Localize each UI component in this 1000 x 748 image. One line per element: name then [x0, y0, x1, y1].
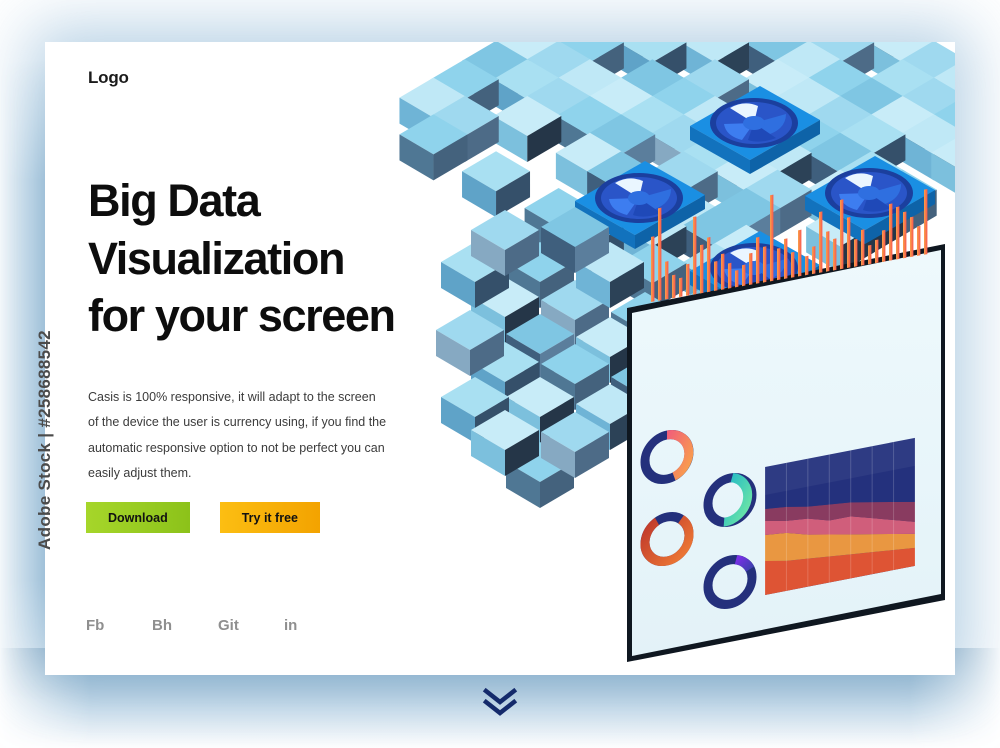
bar [686, 264, 689, 296]
bar [805, 256, 808, 276]
hero-card: Logo Big Data Visualization for your scr… [45, 42, 955, 675]
bar [679, 278, 682, 298]
bar [672, 275, 675, 299]
bar [658, 208, 661, 301]
bar [693, 216, 696, 294]
bar [812, 246, 815, 274]
bar [840, 199, 843, 269]
bar [735, 270, 738, 287]
bar [875, 239, 878, 263]
bar [749, 253, 752, 285]
bar [784, 238, 787, 279]
stock-watermark: Adobe Stock | #258688542 [35, 325, 55, 555]
bar [868, 245, 871, 265]
try-it-free-button[interactable]: Try it free [220, 502, 320, 533]
bar [833, 238, 836, 270]
hero-description: Casis is 100% responsive, it will adapt … [88, 385, 388, 488]
bar [791, 252, 794, 278]
bar [924, 189, 927, 255]
social-link-github[interactable]: Git [218, 617, 284, 634]
page-title: Big Data Visualization for your screen [88, 172, 508, 345]
double-chevron-down-icon [481, 685, 519, 719]
bar [763, 246, 766, 282]
bar [819, 211, 822, 273]
page-stage: Logo Big Data Visualization for your scr… [0, 0, 1000, 748]
bar [728, 263, 731, 289]
hero-card-clip: Logo Big Data Visualization for your scr… [45, 42, 955, 675]
logo[interactable]: Logo [88, 68, 129, 88]
bar [721, 253, 724, 289]
social-links: Fb Bh Git in [86, 617, 350, 634]
headline-line-1: Big Data [88, 172, 508, 230]
bar [917, 226, 920, 256]
bar [889, 203, 892, 260]
bar [854, 239, 857, 267]
social-link-facebook[interactable]: Fb [86, 617, 152, 634]
bar [700, 245, 703, 294]
bar [882, 230, 885, 262]
bar [903, 212, 906, 259]
isometric-illustration [445, 42, 955, 675]
bar [896, 206, 899, 259]
bar [742, 265, 745, 287]
bar [707, 237, 710, 292]
cta-button-row: Download Try it free [86, 502, 320, 533]
headline-line-3: for your screen [88, 287, 508, 345]
bar [770, 195, 773, 282]
social-link-linkedin[interactable]: in [284, 617, 350, 634]
social-link-behance[interactable]: Bh [152, 617, 218, 634]
scroll-down-button[interactable] [481, 685, 519, 719]
bar [847, 217, 850, 268]
bar [798, 230, 801, 277]
download-button[interactable]: Download [86, 502, 190, 533]
bar [756, 237, 759, 284]
bar [714, 261, 717, 291]
bar [826, 231, 829, 272]
bar [651, 236, 654, 302]
headline-line-2: Visualization [88, 230, 508, 288]
bar [910, 217, 913, 258]
bar [665, 261, 668, 299]
bar [777, 248, 780, 280]
bar [861, 229, 864, 265]
